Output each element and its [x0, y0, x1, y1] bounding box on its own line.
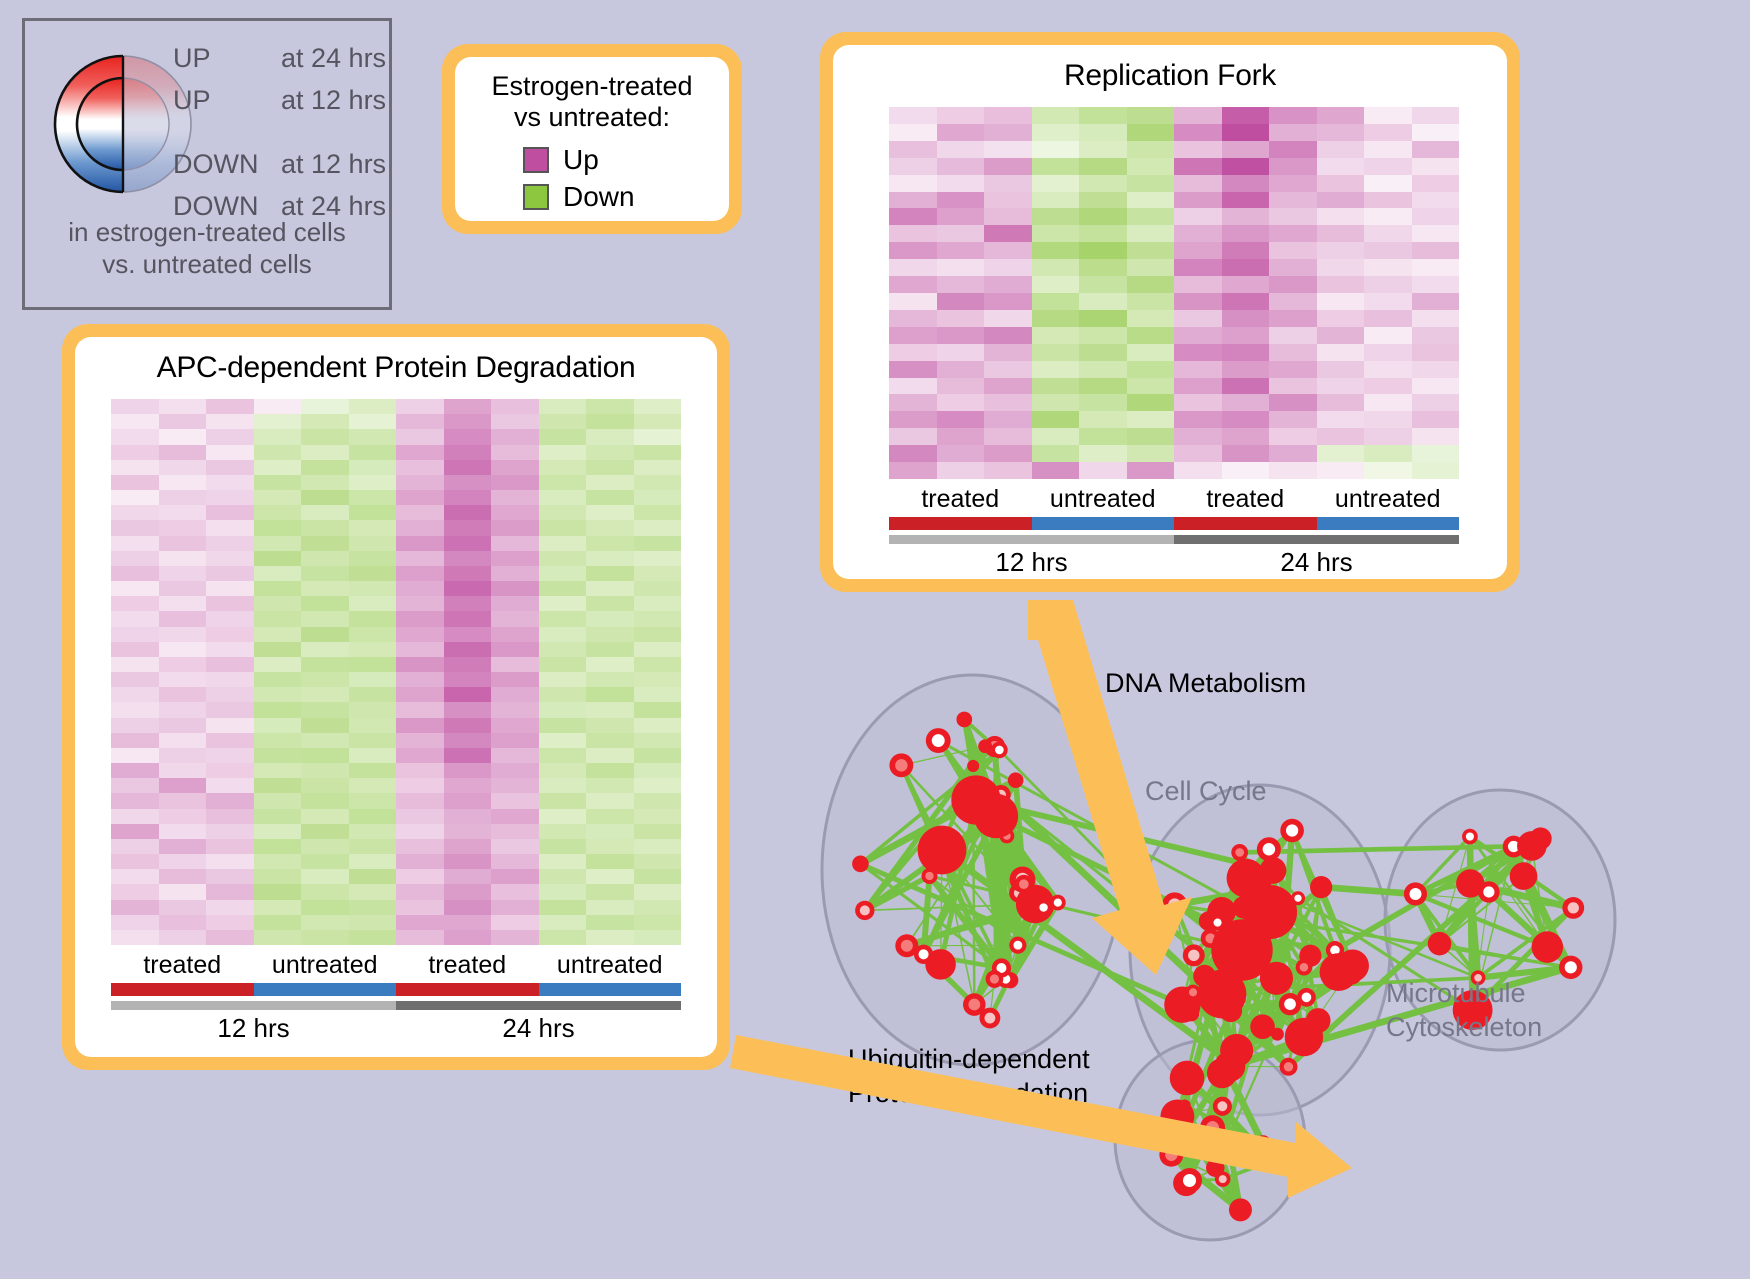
network-node[interactable] [1213, 1097, 1232, 1116]
heatmap-cell [349, 687, 397, 702]
network-node[interactable] [1428, 932, 1452, 956]
heatmap-cell [1174, 259, 1222, 276]
heatmap-cell [937, 158, 985, 175]
heatmap-cell [254, 536, 302, 551]
heatmap-cell [396, 854, 444, 869]
heatmap-cell [1079, 141, 1127, 158]
heatmap-cell [1269, 361, 1317, 378]
heatmap-cell [301, 869, 349, 884]
heatmap-cell [1269, 124, 1317, 141]
heatmap-cell [444, 596, 492, 611]
heatmap-cell [1174, 293, 1222, 310]
network-node[interactable] [1456, 869, 1484, 897]
heatmap-cell [396, 869, 444, 884]
heatmap-cell [1174, 344, 1222, 361]
heatmap-cell [889, 141, 937, 158]
heatmap-cell [1412, 192, 1460, 209]
key-caption-line2: vs. untreated cells [25, 249, 389, 281]
heatmap-cell [491, 809, 539, 824]
heatmap-cell [1079, 276, 1127, 293]
heatmap-cell [634, 763, 682, 778]
heatmap-cell [396, 702, 444, 717]
apc-degradation-panel: APC-dependent Protein Degradation treate… [62, 324, 730, 1070]
heatmap-cell [206, 672, 254, 687]
heatmap-cell [301, 839, 349, 854]
network-node[interactable] [1015, 875, 1034, 894]
heatmap-cell [301, 429, 349, 444]
heatmap-cell [396, 520, 444, 535]
network-node[interactable] [1510, 862, 1538, 890]
heatmap-cell [396, 809, 444, 824]
heatmap-cell [1127, 394, 1175, 411]
heatmap-cell [1269, 327, 1317, 344]
network-node[interactable] [855, 901, 874, 920]
time-label: 24 hrs [396, 1013, 681, 1044]
network-node[interactable] [1266, 1154, 1279, 1167]
heatmap-cell [586, 505, 634, 520]
network-node[interactable] [852, 856, 869, 873]
heatmap-cell [1412, 361, 1460, 378]
network-node[interactable] [889, 753, 913, 777]
heatmap-cell [1222, 225, 1270, 242]
heatmap-cell [254, 809, 302, 824]
heatmap-cell [1412, 158, 1460, 175]
heatmap-cell [1317, 411, 1365, 428]
group-color-treated-12 [111, 983, 254, 996]
heatmap-cell [539, 809, 587, 824]
network-node[interactable] [1257, 837, 1281, 861]
heatmap-cell [586, 824, 634, 839]
network-node[interactable] [1462, 829, 1478, 845]
heatmap-cell [254, 460, 302, 475]
heatmap-cell [159, 687, 207, 702]
heatmap-cell [254, 915, 302, 930]
heatmap-cell [396, 475, 444, 490]
network-node[interactable] [1160, 1099, 1194, 1133]
heatmap-cell [159, 611, 207, 626]
heatmap-cell [491, 460, 539, 475]
key-row-up-24: UP at 24 hrs [173, 43, 388, 85]
network-node[interactable] [1035, 899, 1051, 915]
heatmap-cell [491, 414, 539, 429]
network-node[interactable] [1296, 959, 1312, 975]
network-node[interactable] [1297, 988, 1316, 1007]
time-label: 24 hrs [1174, 547, 1459, 578]
heatmap-cell [1317, 462, 1365, 479]
heatmap-cell [396, 460, 444, 475]
label-cytoskeleton: Cytoskeleton [1386, 1012, 1542, 1042]
heatmap-cell [586, 702, 634, 717]
network-node[interactable] [1254, 1135, 1272, 1153]
heatmap-cell [586, 627, 634, 642]
heatmap-cell [254, 505, 302, 520]
heatmap-cell [349, 839, 397, 854]
heatmap-cell [586, 429, 634, 444]
heatmap-cell [937, 428, 985, 445]
group-label: untreated [1317, 485, 1460, 514]
network-node[interactable] [1517, 831, 1547, 861]
network-node[interactable] [1183, 944, 1205, 966]
network-node[interactable] [1231, 844, 1248, 861]
group-labels: treated untreated treated untreated [889, 485, 1459, 514]
heatmap-cell [1317, 141, 1365, 158]
heatmap-cell [301, 687, 349, 702]
heatmap-cell [1222, 462, 1270, 479]
heatmap-cell [444, 505, 492, 520]
heatmap-cell [937, 394, 985, 411]
heatmap-cell [586, 642, 634, 657]
heatmap-cell [1364, 462, 1412, 479]
heatmap-cell [1222, 107, 1270, 124]
heatmap-cell [889, 411, 937, 428]
key-row-up-12: UP at 12 hrs [173, 85, 388, 127]
heatmap-cell [111, 733, 159, 748]
heatmap-cell [444, 490, 492, 505]
heatmap-cell [206, 642, 254, 657]
heatmap-cell [301, 733, 349, 748]
heatmap-cell [1269, 310, 1317, 327]
heatmap-cell [1079, 428, 1127, 445]
heatmap-cell [1269, 378, 1317, 395]
key-caption-line1: in estrogen-treated cells [25, 217, 389, 249]
heatmap-cell [444, 657, 492, 672]
heatmap-cell [206, 884, 254, 899]
network-node[interactable] [1229, 1198, 1252, 1221]
network-node[interactable] [1320, 953, 1358, 991]
heatmap-cell [444, 475, 492, 490]
heatmap-cell [349, 809, 397, 824]
concentric-ring-key [53, 39, 193, 209]
heatmap-cell [586, 718, 634, 733]
heatmap-cell [634, 475, 682, 490]
heatmap-cell [1032, 378, 1080, 395]
network-node[interactable] [974, 794, 1018, 838]
network-node[interactable] [1562, 897, 1584, 919]
network-node[interactable] [1306, 1008, 1331, 1033]
heatmap-cell [1364, 378, 1412, 395]
heatmap-cell [1079, 462, 1127, 479]
heatmap-cell [206, 854, 254, 869]
heatmap-cell [937, 361, 985, 378]
group-color-treated-24 [1174, 517, 1317, 530]
heatmap-cell [539, 687, 587, 702]
heatmap-cell [206, 566, 254, 581]
network-node[interactable] [1243, 885, 1297, 939]
heatmap-cell [889, 445, 937, 462]
heatmap-cell [1032, 208, 1080, 225]
network-node[interactable] [991, 742, 1008, 759]
network-node[interactable] [1177, 1168, 1202, 1193]
heatmap-cell [1174, 107, 1222, 124]
heatmap-cell [111, 596, 159, 611]
heatmap-cell [539, 414, 587, 429]
heatmap-cell [1317, 208, 1365, 225]
key-text-column: UP at 24 hrs UP at 12 hrs DOWN at 12 hrs… [173, 43, 388, 233]
heatmap-cell [1364, 158, 1412, 175]
heatmap-cell [1222, 124, 1270, 141]
heatmap-cell [1317, 259, 1365, 276]
heatmap-cell [1412, 124, 1460, 141]
heatmap-cell [111, 763, 159, 778]
heatmap-cell [539, 611, 587, 626]
heatmap-cell [539, 445, 587, 460]
heatmap-cell [634, 581, 682, 596]
heatmap-cell [984, 310, 1032, 327]
heatmap-cell [254, 429, 302, 444]
heatmap-cell [634, 596, 682, 611]
heatmap-cell [539, 460, 587, 475]
heatmap-cell [159, 520, 207, 535]
network-node[interactable] [967, 760, 979, 772]
heatmap-cell [1127, 208, 1175, 225]
heatmap-cell [1032, 394, 1080, 411]
heatmap-cell [491, 930, 539, 945]
network-node[interactable] [978, 739, 992, 753]
heatmap-cell [1269, 208, 1317, 225]
heatmap-cell [206, 915, 254, 930]
heatmap-cell [634, 900, 682, 915]
heatmap-cell [1412, 378, 1460, 395]
heatmap-cell [444, 687, 492, 702]
heatmap-cell [586, 915, 634, 930]
heatmap-cell [111, 642, 159, 657]
heatmap-cell [1364, 361, 1412, 378]
heatmap-cell [889, 293, 937, 310]
heatmap-cell [491, 520, 539, 535]
heatmap-cell [444, 748, 492, 763]
network-node[interactable] [956, 712, 972, 728]
heatmap-cell [1269, 344, 1317, 361]
network-node[interactable] [1009, 937, 1026, 954]
network-node[interactable] [1206, 1159, 1224, 1177]
heatmap-cell [111, 884, 159, 899]
heatmap-cell [1032, 327, 1080, 344]
network-node[interactable] [1170, 1061, 1205, 1096]
heatmap-cell [586, 778, 634, 793]
heatmap-cell [349, 718, 397, 733]
time-color-12 [111, 1001, 396, 1010]
network-node[interactable] [1404, 882, 1427, 905]
key-time: at 24 hrs [281, 43, 386, 74]
heatmap-cell [1364, 411, 1412, 428]
heatmap-cell [301, 475, 349, 490]
heatmap-cell [301, 793, 349, 808]
network-node[interactable] [979, 1008, 1000, 1029]
heatmap-cell [1222, 175, 1270, 192]
heatmap-cell [634, 915, 682, 930]
network-node[interactable] [1159, 1143, 1183, 1167]
heatmap-cell [1222, 428, 1270, 445]
heatmap-cell [254, 414, 302, 429]
heatmap-cell [301, 642, 349, 657]
heatmap-cell [889, 327, 937, 344]
heatmap-cell [444, 718, 492, 733]
heatmap-cell [396, 445, 444, 460]
replication-fork-panel: Replication Fork treated untreated treat… [820, 32, 1520, 592]
heatmap-cell [1269, 462, 1317, 479]
heatmap-cell [349, 642, 397, 657]
heatmap-cell [937, 378, 985, 395]
heatmap-cell [1127, 445, 1175, 462]
heatmap-cell [206, 581, 254, 596]
heatmap-cell [301, 581, 349, 596]
heatmap-cell [1127, 141, 1175, 158]
network-node[interactable] [1279, 1058, 1297, 1076]
heatmap-cell [586, 475, 634, 490]
heatmap-cell [301, 536, 349, 551]
heatmap-cell [159, 915, 207, 930]
heatmap-cell [159, 414, 207, 429]
heatmap-cell [937, 242, 985, 259]
heatmap-cell [937, 124, 985, 141]
network-node[interactable] [1559, 956, 1582, 979]
network-node[interactable] [1162, 892, 1187, 917]
heatmap-cell [586, 733, 634, 748]
network-node[interactable] [1260, 857, 1287, 884]
heatmap-cell [396, 611, 444, 626]
heatmap-cell [111, 854, 159, 869]
heatmap-cell [984, 259, 1032, 276]
network-node[interactable] [1310, 876, 1332, 898]
heatmap-cell [254, 687, 302, 702]
heatmap-cell [1364, 192, 1412, 209]
network-node[interactable] [1198, 970, 1247, 1019]
heatmap-cell [491, 824, 539, 839]
heatmap-cell [984, 192, 1032, 209]
heatmap-cell [1412, 141, 1460, 158]
heatmap-cell [206, 930, 254, 945]
heatmap-cell [1032, 462, 1080, 479]
heatmap-cell [586, 809, 634, 824]
heatmap-cell [889, 192, 937, 209]
heatmap-cell [301, 702, 349, 717]
heatmap-cell [349, 581, 397, 596]
heatmap-cell [396, 414, 444, 429]
network-node[interactable] [918, 826, 967, 875]
heatmap-cell [491, 687, 539, 702]
heatmap-cell [206, 900, 254, 915]
heatmap-cell [159, 642, 207, 657]
heatmap-cell [634, 718, 682, 733]
heatmap-cell [586, 414, 634, 429]
heatmap-cell [539, 854, 587, 869]
heatmap-cell [349, 672, 397, 687]
heatmap-cell [396, 930, 444, 945]
network-node[interactable] [914, 945, 933, 964]
down-color-swatch [523, 184, 549, 210]
heatmap-cell [1079, 158, 1127, 175]
heatmap-cell [396, 581, 444, 596]
heatmap-cell [586, 520, 634, 535]
heatmap-cell [1127, 175, 1175, 192]
network-node[interactable] [1280, 819, 1304, 843]
heatmap-cell [1222, 158, 1270, 175]
heatmap-cell [206, 702, 254, 717]
label-cell-cycle: Cell Cycle [1145, 776, 1267, 806]
heatmap-cell [984, 394, 1032, 411]
heatmap-cell [301, 551, 349, 566]
heatmap-cell [254, 520, 302, 535]
network-node[interactable] [1532, 931, 1564, 963]
heatmap-cell [301, 596, 349, 611]
heatmap-cell [539, 551, 587, 566]
heatmap-cell [984, 124, 1032, 141]
heatmap-cell [159, 399, 207, 414]
pathway-network-diagram: DNA Metabolism Cell Cycle Microtubule Cy… [790, 620, 1750, 1279]
heatmap-cell [984, 378, 1032, 395]
heatmap-cell [159, 475, 207, 490]
heatmap-cell [539, 520, 587, 535]
heatmap-cell [254, 551, 302, 566]
network-node[interactable] [1207, 1058, 1237, 1088]
heatmap-cell [586, 930, 634, 945]
network-node[interactable] [926, 728, 951, 753]
key-time: at 12 hrs [281, 149, 386, 180]
network-node[interactable] [1200, 1115, 1225, 1140]
heatmap-cell [301, 718, 349, 733]
heatmap-cell [349, 566, 397, 581]
group-color-bar [889, 517, 1459, 530]
heatmap-cell [1127, 107, 1175, 124]
heatmap-cell [159, 505, 207, 520]
heatmap-cell [1269, 428, 1317, 445]
heatmap-cell [1317, 124, 1365, 141]
heatmap-cell [1269, 445, 1317, 462]
heatmap-cell [586, 566, 634, 581]
heatmap-cell [206, 778, 254, 793]
heatmap-cell [539, 505, 587, 520]
heatmap-cell [444, 900, 492, 915]
heatmap-cell [491, 900, 539, 915]
heatmap-cell [586, 793, 634, 808]
heatmap-cell [349, 460, 397, 475]
network-node[interactable] [1250, 1014, 1275, 1039]
heatmap-cell [1269, 242, 1317, 259]
heatmap-cell [1412, 344, 1460, 361]
heatmap-cell [539, 642, 587, 657]
heatmap-cell [1127, 259, 1175, 276]
heatmap-cell [634, 611, 682, 626]
heatmap-cell [1079, 310, 1127, 327]
heatmap-cell [889, 175, 937, 192]
heatmap-cell [491, 627, 539, 642]
expression-key-box: UP at 24 hrs UP at 12 hrs DOWN at 12 hrs… [22, 18, 392, 310]
network-node[interactable] [986, 970, 1004, 988]
network-node[interactable] [1008, 772, 1024, 788]
heatmap-cell [539, 490, 587, 505]
heatmap-cell [1269, 107, 1317, 124]
legend-label-down: Down [563, 181, 635, 213]
time-label: 12 hrs [111, 1013, 396, 1044]
group-label: untreated [539, 951, 682, 980]
heatmap-cell [349, 900, 397, 915]
heatmap-cell [1364, 445, 1412, 462]
heatmap-cell [1222, 242, 1270, 259]
heatmap-cell [159, 627, 207, 642]
heatmap-cell [491, 505, 539, 520]
heatmap-cell [1364, 225, 1412, 242]
heatmap-cell [206, 824, 254, 839]
heatmap-cell [206, 414, 254, 429]
heatmap-cell [1364, 107, 1412, 124]
heatmap-cell [634, 399, 682, 414]
heatmap-cell [889, 378, 937, 395]
heatmap-cell [1317, 394, 1365, 411]
network-node[interactable] [1050, 895, 1066, 911]
heatmap-cell [159, 748, 207, 763]
heatmap-cell [491, 763, 539, 778]
heatmap-cell [1032, 445, 1080, 462]
